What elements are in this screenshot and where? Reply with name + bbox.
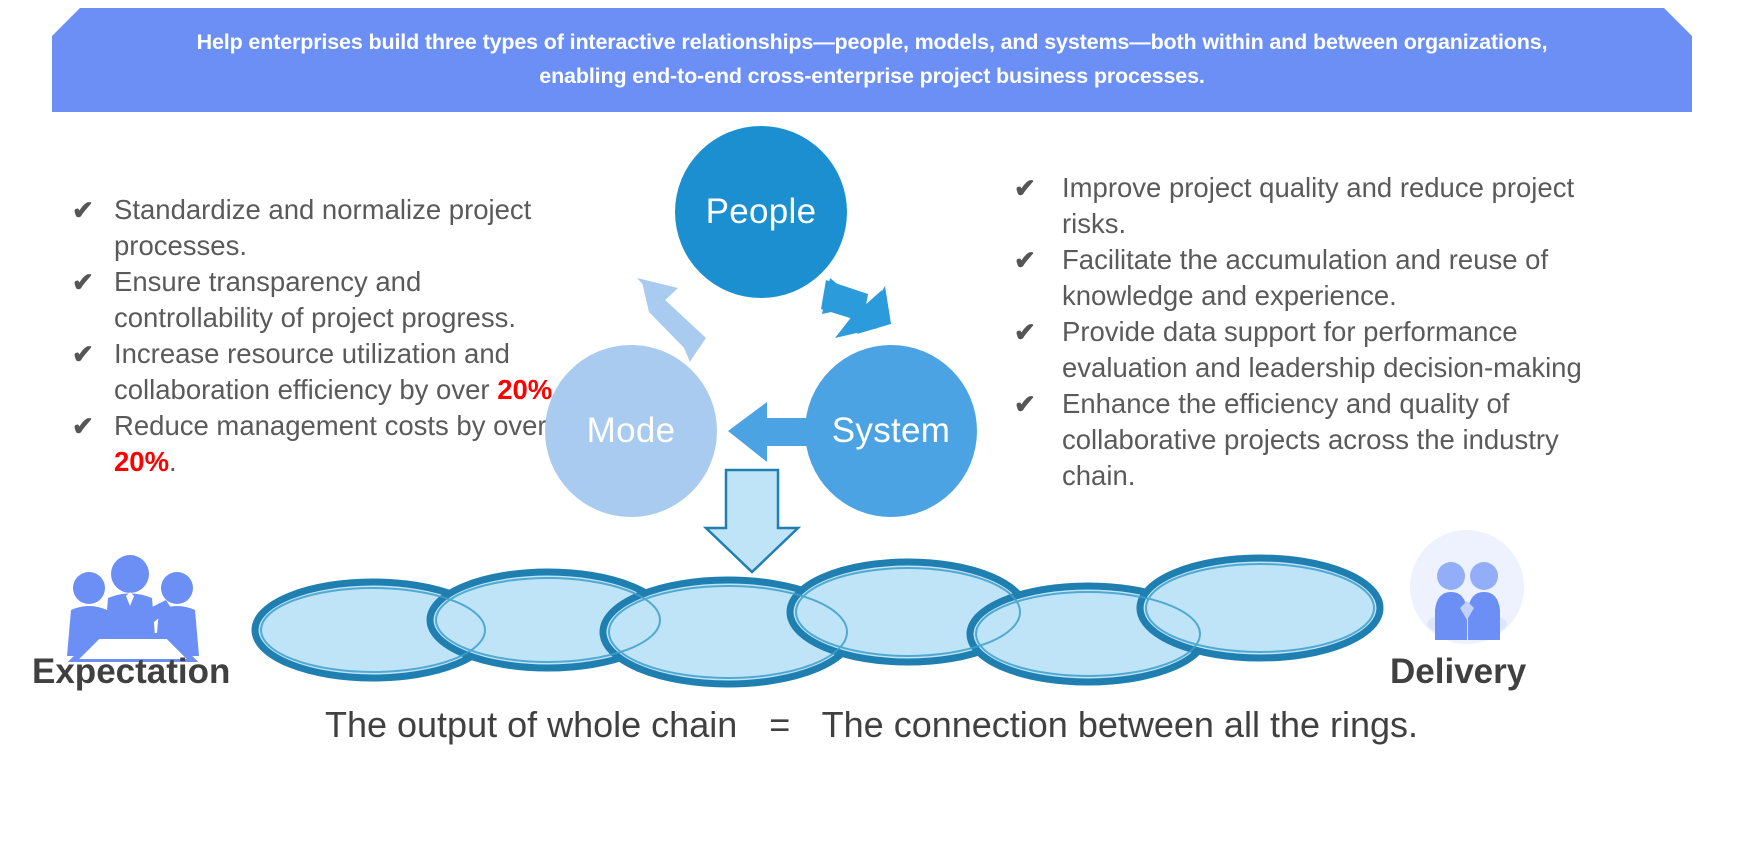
arrow-system-to-mode-icon — [728, 402, 812, 462]
node-mode[interactable]: Mode — [545, 345, 717, 517]
expectation-label: Expectation — [32, 652, 230, 692]
list-item: ✔ Reduce management costs by over 20%. — [52, 408, 572, 480]
arrow-people-to-system-icon — [821, 278, 891, 338]
list-item-label: Increase resource utilization and collab… — [114, 336, 572, 408]
list-item-label: Enhance the efficiency and quality of co… — [1062, 386, 1600, 494]
check-icon: ✔ — [52, 264, 114, 300]
cycle-diagram: People Mode System — [530, 110, 1000, 570]
check-icon: ✔ — [1000, 242, 1062, 278]
list-item-label: Facilitate the accumulation and reuse of… — [1062, 242, 1600, 314]
list-item-label: Improve project quality and reduce proje… — [1062, 170, 1600, 242]
list-item: ✔ Enhance the efficiency and quality of … — [1000, 386, 1600, 494]
check-icon: ✔ — [1000, 170, 1062, 206]
list-item-label: Reduce management costs by over 20%. — [114, 408, 572, 480]
banner-line-1: Help enterprises build three types of in… — [197, 25, 1548, 59]
value-chain-rings — [248, 548, 1388, 688]
check-icon: ✔ — [1000, 386, 1062, 422]
list-item-label: Provide data support for performance eva… — [1062, 314, 1600, 386]
check-icon: ✔ — [52, 192, 114, 228]
check-icon: ✔ — [52, 336, 114, 372]
node-system[interactable]: System — [805, 345, 977, 517]
list-item: ✔ Improve project quality and reduce pro… — [1000, 170, 1600, 242]
list-item-text-tail: . — [169, 446, 177, 477]
list-item: ✔ Provide data support for performance e… — [1000, 314, 1600, 386]
handshake-circle-icon — [1408, 528, 1526, 646]
node-people[interactable]: People — [675, 126, 847, 298]
chain-rings-graphic — [248, 548, 1388, 688]
list-item: ✔ Standardize and normalize project proc… — [52, 192, 572, 264]
right-benefit-list: ✔ Improve project quality and reduce pro… — [1000, 170, 1600, 494]
footer-equation: The output of whole chain = The connecti… — [0, 700, 1743, 750]
footer-part-2: The connection between all the rings. — [822, 704, 1418, 745]
check-icon: ✔ — [1000, 314, 1062, 350]
check-icon: ✔ — [52, 408, 114, 444]
list-item: ✔ Ensure transparency and controllabilit… — [52, 264, 572, 336]
list-item: ✔ Increase resource utilization and coll… — [52, 336, 572, 408]
left-benefit-list: ✔ Standardize and normalize project proc… — [52, 192, 572, 480]
list-item-text: Increase resource utilization and collab… — [114, 338, 510, 405]
node-system-label: System — [832, 411, 951, 451]
footer-equals-sign: = — [747, 700, 812, 750]
node-people-label: People — [706, 192, 817, 232]
node-mode-label: Mode — [587, 411, 676, 451]
slide-canvas: Help enterprises build three types of in… — [0, 0, 1743, 851]
headline-banner: Help enterprises build three types of in… — [52, 8, 1692, 112]
meeting-people-icon — [58, 552, 208, 662]
banner-line-2: enabling end-to-end cross-enterprise pro… — [539, 59, 1204, 93]
list-item-label: Standardize and normalize project proces… — [114, 192, 572, 264]
list-item-label: Ensure transparency and controllability … — [114, 264, 572, 336]
highlight-value: 20% — [114, 446, 169, 477]
list-item: ✔ Facilitate the accumulation and reuse … — [1000, 242, 1600, 314]
footer-part-1: The output of whole chain — [325, 704, 737, 745]
list-item-text: Reduce management costs by over — [114, 410, 547, 441]
delivery-label: Delivery — [1390, 652, 1526, 692]
